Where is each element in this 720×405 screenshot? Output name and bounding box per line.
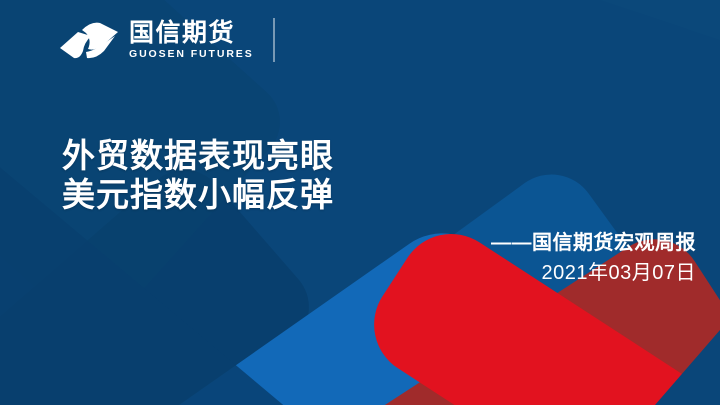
brand-logo: 国信期货 GUOSEN FUTURES <box>58 18 275 62</box>
logo-divider <box>273 18 275 62</box>
presentation-title-slide: 国信期货 GUOSEN FUTURES 外贸数据表现亮眼 美元指数小幅反弹 ——… <box>0 0 720 405</box>
report-date: 2021年03月07日 <box>491 260 696 286</box>
title-meta: ——国信期货宏观周报 2021年03月07日 <box>491 230 696 286</box>
report-subtitle: ——国信期货宏观周报 <box>491 230 696 256</box>
guosen-diamond-logo-icon <box>58 18 120 62</box>
brand-wordmark: 国信期货 GUOSEN FUTURES <box>129 20 254 61</box>
brand-name-en: GUOSEN FUTURES <box>129 48 254 61</box>
page-title: 外贸数据表现亮眼 美元指数小幅反弹 <box>62 136 334 214</box>
title-line-2: 美元指数小幅反弹 <box>62 175 334 214</box>
brand-name-cn: 国信期货 <box>129 20 235 47</box>
title-line-1: 外贸数据表现亮眼 <box>62 136 334 175</box>
